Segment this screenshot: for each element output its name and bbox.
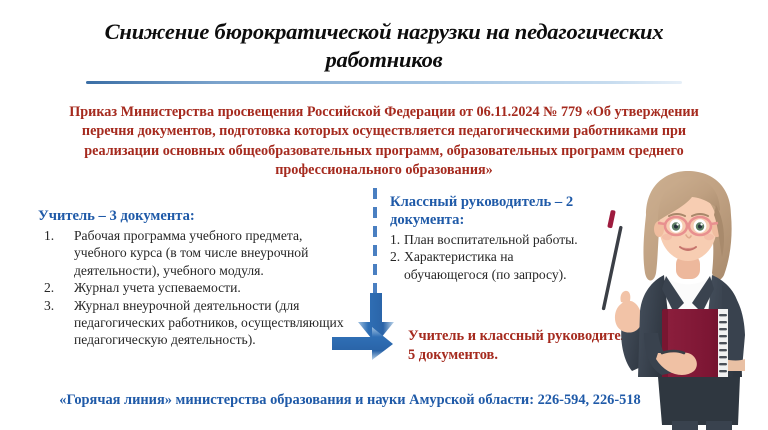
list-item: 3. Журнал внеурочной деятельности (для п… [38,297,358,349]
slide-canvas: Снижение бюрократической нагрузки на пед… [0,0,768,430]
list-item: 1. План воспитательной работы. [390,231,595,248]
list-item-text: Характеристика на обучающегося (по запро… [404,249,567,281]
teacher-illustration [588,163,768,430]
teacher-documents-block: Учитель – 3 документа: 1. Рабочая програ… [38,207,358,349]
list-item-number: 2. [44,279,66,296]
list-item-text: Рабочая программа учебного предмета, уче… [74,228,308,278]
list-item-text: План воспитательной работы. [404,232,578,247]
class-teacher-documents-list: 1. План воспитательной работы. 2. Характ… [390,231,595,283]
conclusion-text: Учитель и классный руководитель – 5 доку… [408,327,648,365]
list-item-number: 1. [44,227,66,244]
list-item: 2. Характеристика на обучающегося (по за… [390,248,595,283]
list-item: 2. Журнал учета успеваемости. [38,279,358,296]
title-underline-rule [86,81,682,84]
dashed-connector-line [373,188,377,300]
pointer-stick-icon [602,210,623,311]
order-paragraph: Приказ Министерства просвещения Российск… [48,103,720,180]
list-item-number: 1. [390,231,400,248]
arrow-right-icon [332,327,394,361]
class-teacher-documents-block: Классный руководитель – 2 документа: 1. … [390,193,595,283]
page-title: Снижение бюрократической нагрузки на пед… [84,18,684,74]
list-item-number: 3. [44,297,66,314]
list-item-number: 2. [390,248,400,265]
teacher-documents-list: 1. Рабочая программа учебного предмета, … [38,227,358,349]
class-teacher-documents-heading: Классный руководитель – 2 документа: [390,193,595,229]
list-item-text: Журнал учета успеваемости. [74,280,241,295]
notebook-icon [662,309,728,395]
list-item-text: Журнал внеурочной деятельности (для педа… [74,298,344,348]
glasses-icon [658,217,718,235]
hotline-footer: «Горячая линия» министерства образования… [0,392,700,409]
teacher-documents-heading: Учитель – 3 документа: [38,207,358,225]
list-item: 1. Рабочая программа учебного предмета, … [38,227,358,279]
